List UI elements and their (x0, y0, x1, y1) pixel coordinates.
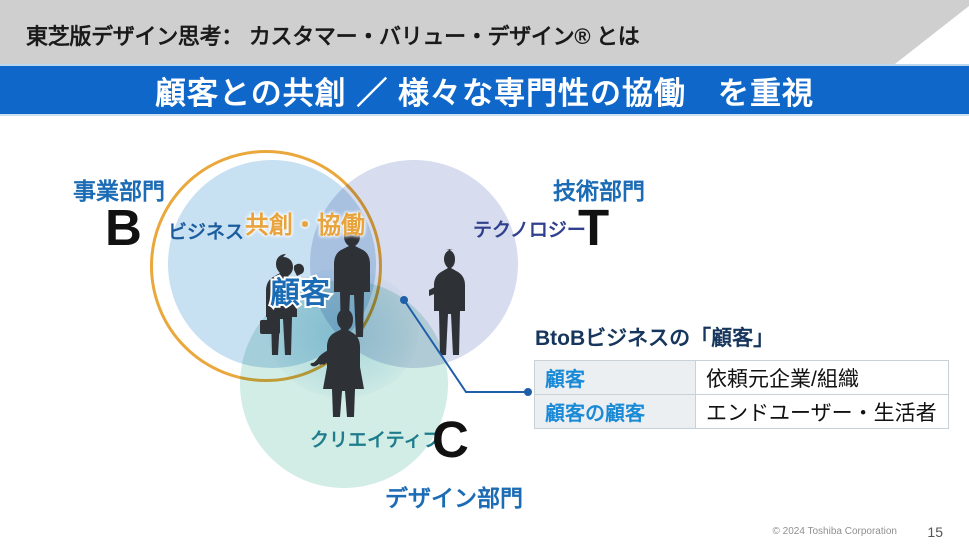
header-eyebrow-title: 東芝版デザイン思考： カスタマー・バリュー・デザイン® とは (26, 19, 639, 51)
customer-definition-table: 顧客 依頼元企業/組織 顧客の顧客 エンドユーザー・生活者 (534, 360, 949, 429)
silhouette-woman-gesturing (310, 305, 372, 417)
label-business: ビジネス (168, 217, 244, 244)
table-cell-value: 依頼元企業/組織 (696, 361, 949, 395)
footer-page-number: 15 (927, 524, 943, 540)
table-cell-key: 顧客 (535, 361, 696, 395)
footer-copyright: © 2024 Toshiba Corporation (773, 526, 898, 537)
venn-cocreation-label: 共創・協働 (245, 205, 365, 240)
label-technology: テクノロジー (473, 215, 586, 242)
table-cell-key: 顧客の顧客 (535, 395, 696, 429)
slide-title: 顧客との共創 ／ 様々な専門性の協働 を重視 (0, 64, 969, 116)
table-cell-value: エンドユーザー・生活者 (696, 395, 949, 429)
label-design-department: デザイン部門 (385, 479, 523, 513)
label-creative: クリエイティブ (310, 425, 441, 452)
table-row: 顧客の顧客 エンドユーザー・生活者 (535, 395, 949, 429)
label-letter-b: B (105, 198, 142, 257)
table-row: 顧客 依頼元企業/組織 (535, 361, 949, 395)
label-letter-c: C (432, 410, 469, 469)
venn-customer-label: 顧客 (270, 268, 330, 312)
info-panel-heading: BtoBビジネスの「顧客」 (535, 322, 774, 352)
callout-connector (390, 285, 540, 405)
